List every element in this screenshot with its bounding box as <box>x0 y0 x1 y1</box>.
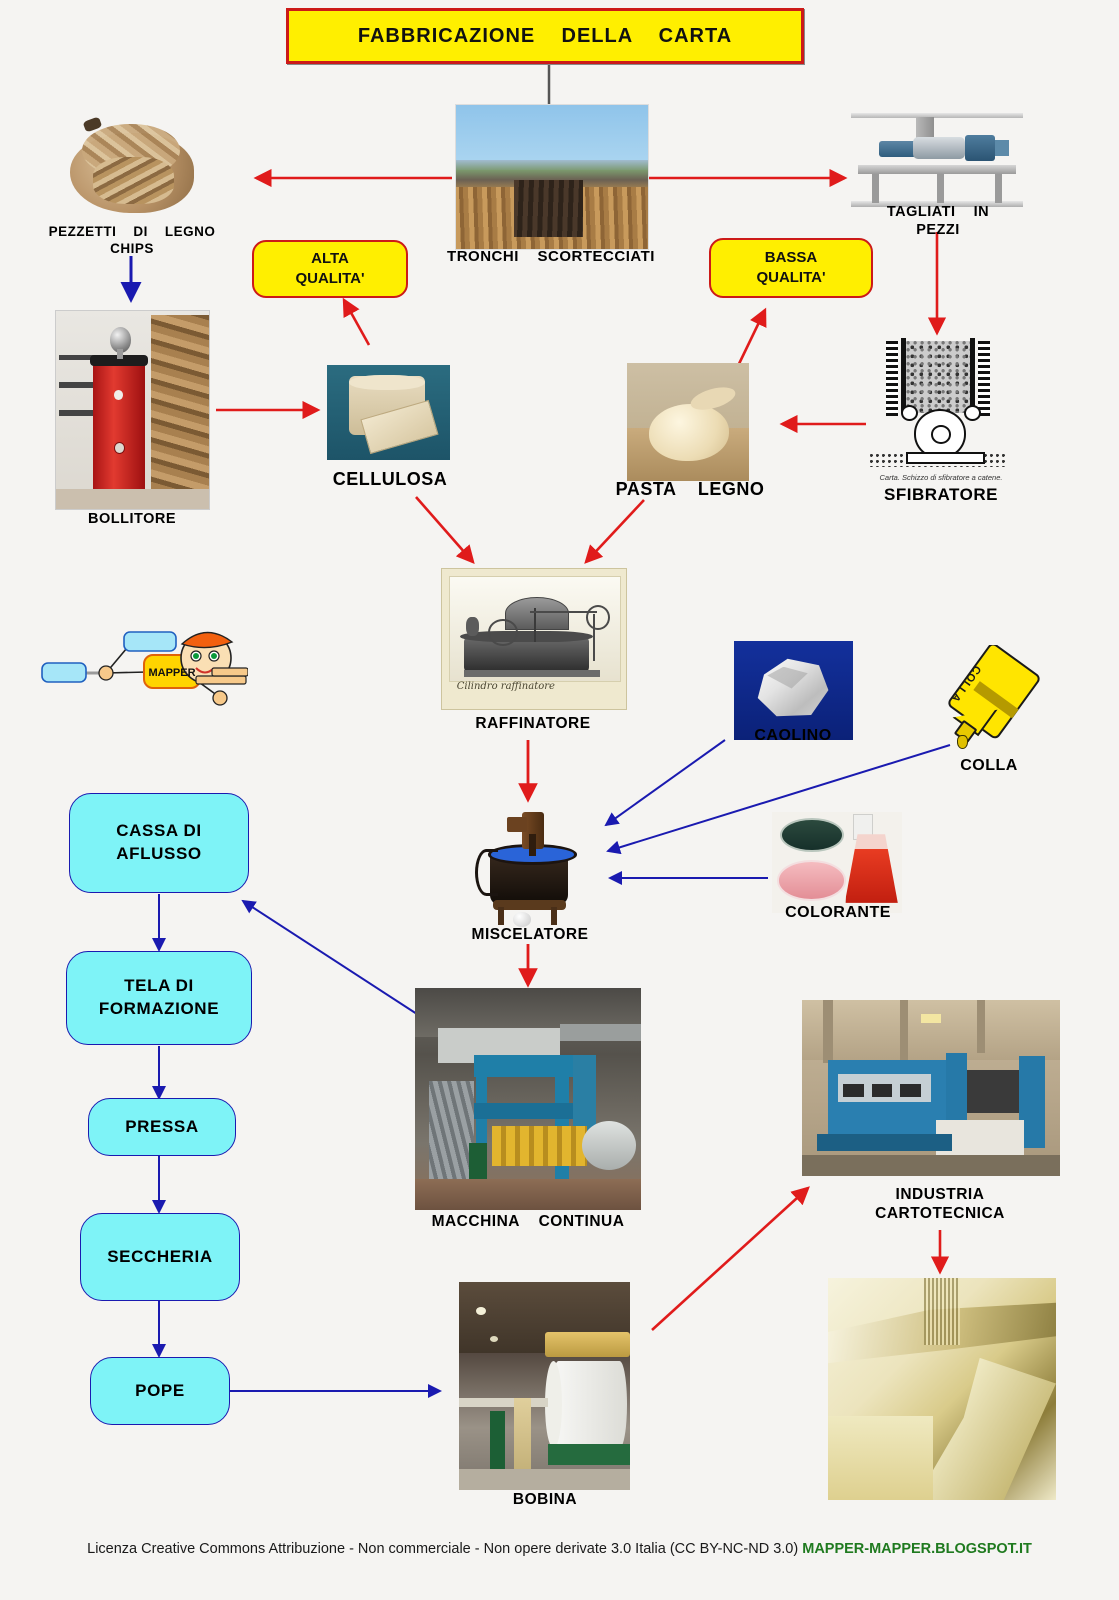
label-tagliati: TAGLIATI IN PEZZI <box>850 203 1026 239</box>
label-pezzetti: PEZZETTI DI LEGNO CHIPS <box>22 224 242 258</box>
arrow-pasta-bassa <box>737 310 765 368</box>
label-raffinatore: RAFFINATORE <box>440 714 626 733</box>
page-title: FABBRICAZIONE DELLA CARTA <box>286 8 804 64</box>
page-title-text: FABBRICAZIONE DELLA CARTA <box>358 25 732 48</box>
label-miscelatore: MISCELATORE <box>452 925 608 944</box>
image-bollitore <box>55 310 210 510</box>
image-pezzetti-chips <box>62 108 202 220</box>
image-macchina-continua <box>415 988 641 1210</box>
caption-sfibratore: Carta. Schizzo di sfibratore a catene. <box>858 473 1024 482</box>
arrow-macchina-cassa <box>243 901 420 1016</box>
arrow-caolino-miscelatore <box>606 740 725 825</box>
footer-license-text: Licenza Creative Commons Attribuzione - … <box>87 1541 802 1557</box>
mapper-logo-text: MAPPER <box>148 667 195 679</box>
flow-box-pope[interactable]: POPE <box>90 1357 230 1425</box>
image-prodotto-carta <box>828 1278 1056 1500</box>
flow-box-pressa[interactable]: PRESSA <box>88 1098 236 1156</box>
arrow-cellulosa-alta <box>344 300 369 345</box>
flow-box-cassa-di-aflusso[interactable]: CASSA DI AFLUSSO <box>69 793 249 893</box>
label-bollitore: BOLLITORE <box>52 510 212 528</box>
image-colorante <box>772 812 902 913</box>
mapper-logo[interactable]: MAPPER <box>36 620 248 716</box>
image-colla: COLLA <box>935 645 1043 757</box>
label-caolino: CAOLINO <box>722 726 864 746</box>
arrow-bobina-industria <box>652 1188 808 1330</box>
label-pasta-legno: PASTA LEGNO <box>600 478 780 501</box>
image-tagliati <box>851 104 1023 214</box>
label-tronchi: TRONCHI SCORTECCIATI <box>420 248 682 267</box>
label-cellulosa: CELLULOSA <box>310 468 470 491</box>
image-cellulosa <box>327 365 450 460</box>
image-bobina <box>459 1282 630 1490</box>
footer-site-link[interactable]: MAPPER-MAPPER.BLOGSPOT.IT <box>802 1541 1032 1557</box>
quality-box-alta: ALTA QUALITA' <box>252 240 408 298</box>
image-tronchi <box>455 104 649 250</box>
image-pasta-legno <box>627 363 749 481</box>
caption-raffinatore-handwritten: Cilindro raffinatore <box>457 681 555 692</box>
image-raffinatore: Cilindro raffinatore <box>441 568 627 710</box>
flow-box-seccheria[interactable]: SECCHERIA <box>80 1213 240 1301</box>
label-macchina-continua: MACCHINA CONTINUA <box>400 1212 656 1231</box>
label-colla: COLLA <box>930 756 1048 776</box>
label-industria-cartotecnica: INDUSTRIA CARTOTECNICA <box>828 1185 1052 1224</box>
label-colorante: COLORANTE <box>760 903 916 923</box>
arrow-cellulosa-raffinatore <box>416 497 473 562</box>
footer: Licenza Creative Commons Attribuzione - … <box>0 1541 1119 1557</box>
flow-box-tela-di-formazione[interactable]: TELA DI FORMAZIONE <box>66 951 252 1045</box>
paper-manufacturing-diagram: FABBRICAZIONE DELLA CARTA TRONCHI SCORTE… <box>0 0 1119 1600</box>
arrow-pasta-raffinatore <box>586 500 644 562</box>
image-sfibratore <box>866 338 1010 472</box>
mapper-logo-graphic: MAPPER <box>36 620 248 716</box>
label-bobina: BOBINA <box>462 1490 628 1509</box>
image-industria-cartotecnica <box>802 1000 1060 1176</box>
quality-box-bassa: BASSA QUALITA' <box>709 238 873 298</box>
label-sfibratore: SFIBRATORE <box>858 484 1024 505</box>
image-miscelatore <box>465 805 591 927</box>
